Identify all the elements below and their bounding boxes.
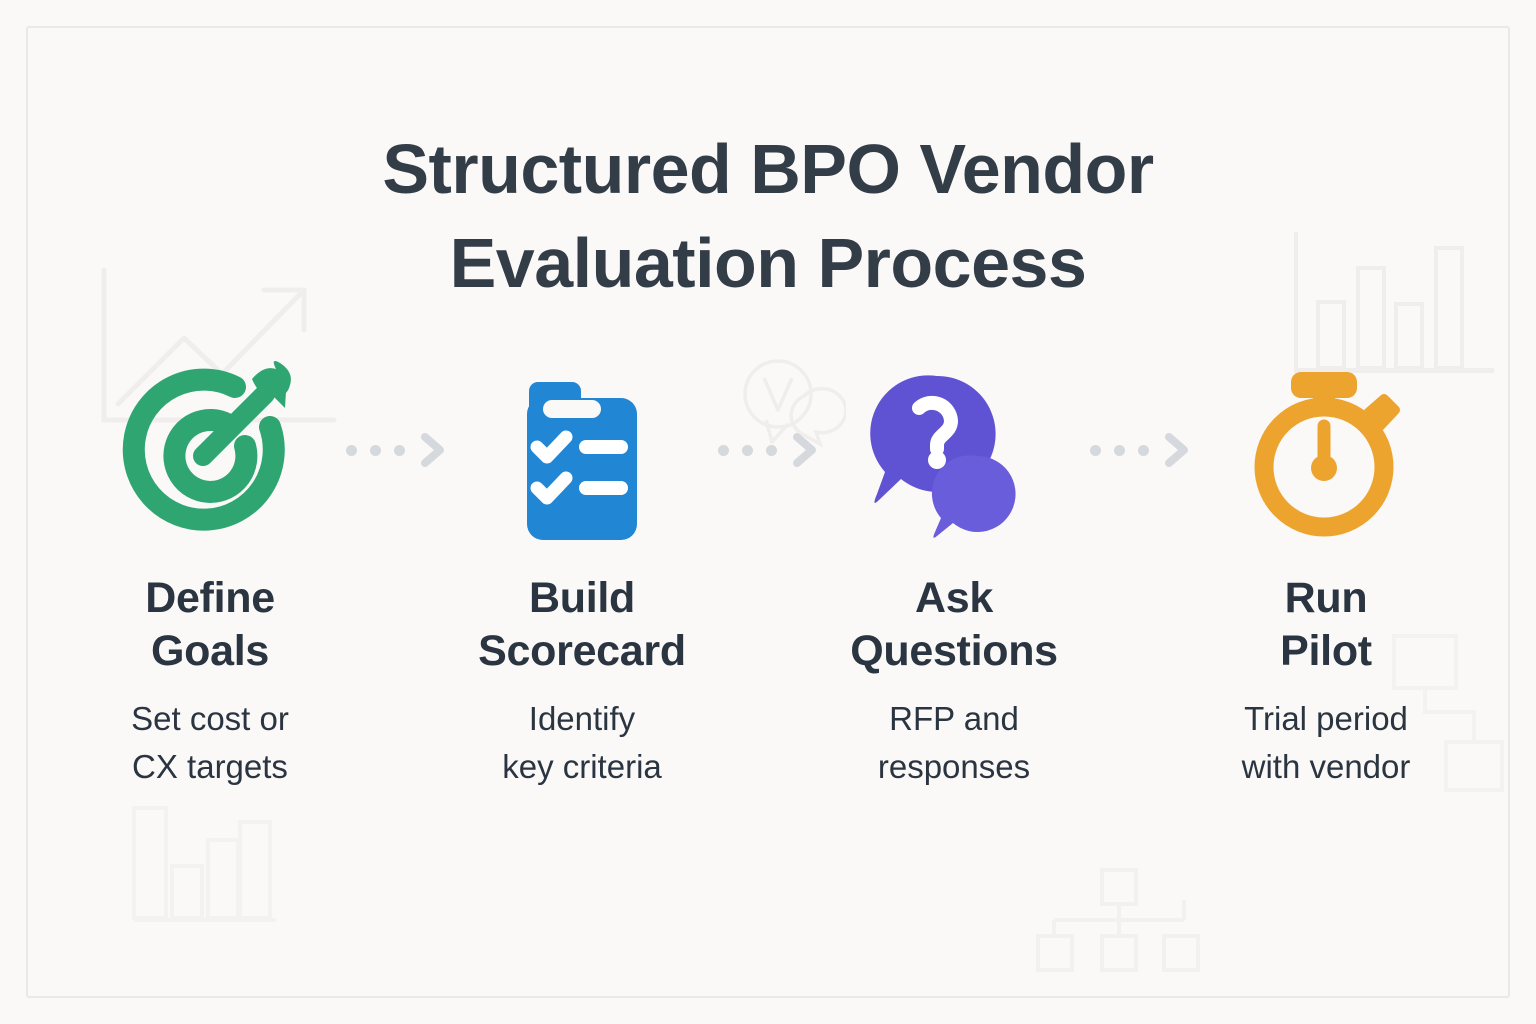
chevron-right-icon <box>420 433 446 467</box>
step-description: Identify key criteria <box>502 695 662 791</box>
connector-3 <box>1088 350 1192 550</box>
connector-2 <box>716 350 820 550</box>
page-title: Structured BPO Vendor Evaluation Process <box>0 123 1536 311</box>
stopwatch-icon <box>1231 350 1421 550</box>
clipboard-checklist-icon <box>487 350 677 550</box>
chevron-right-icon <box>792 433 818 467</box>
step-description: Set cost or CX targets <box>131 695 289 791</box>
connector-dot <box>1090 445 1101 456</box>
process-step-define-goals[interactable]: Define Goals Set cost or CX targets <box>76 350 344 791</box>
step-description: Trial period with vendor <box>1242 695 1411 791</box>
infographic-canvas: Structured BPO Vendor Evaluation Process… <box>0 0 1536 1024</box>
connector-dot <box>1114 445 1125 456</box>
org-chart-watermark <box>1018 848 1248 978</box>
connector-1 <box>344 350 448 550</box>
connector-dot <box>766 445 777 456</box>
process-steps-row: Define Goals Set cost or CX targets <box>78 350 1458 791</box>
step-title: Build Scorecard <box>478 572 686 679</box>
connector-dot <box>370 445 381 456</box>
connector-dot <box>1138 445 1149 456</box>
process-step-build-scorecard[interactable]: Build Scorecard Identify key criteria <box>448 350 716 791</box>
step-title: Run Pilot <box>1280 572 1372 679</box>
connector-dot <box>718 445 729 456</box>
bar-chart-watermark-2 <box>112 798 342 928</box>
step-title: Ask Questions <box>850 572 1058 679</box>
step-title: Define Goals <box>145 572 275 679</box>
process-step-run-pilot[interactable]: Run Pilot Trial period with vendor <box>1192 350 1460 791</box>
chevron-right-icon <box>1164 433 1190 467</box>
target-arrow-icon <box>115 350 305 550</box>
connector-dot <box>742 445 753 456</box>
connector-dot <box>394 445 405 456</box>
connector-dot <box>346 445 357 456</box>
step-description: RFP and responses <box>878 695 1030 791</box>
question-speech-bubbles-icon <box>859 350 1049 550</box>
process-step-ask-questions[interactable]: Ask Questions RFP and responses <box>820 350 1088 791</box>
